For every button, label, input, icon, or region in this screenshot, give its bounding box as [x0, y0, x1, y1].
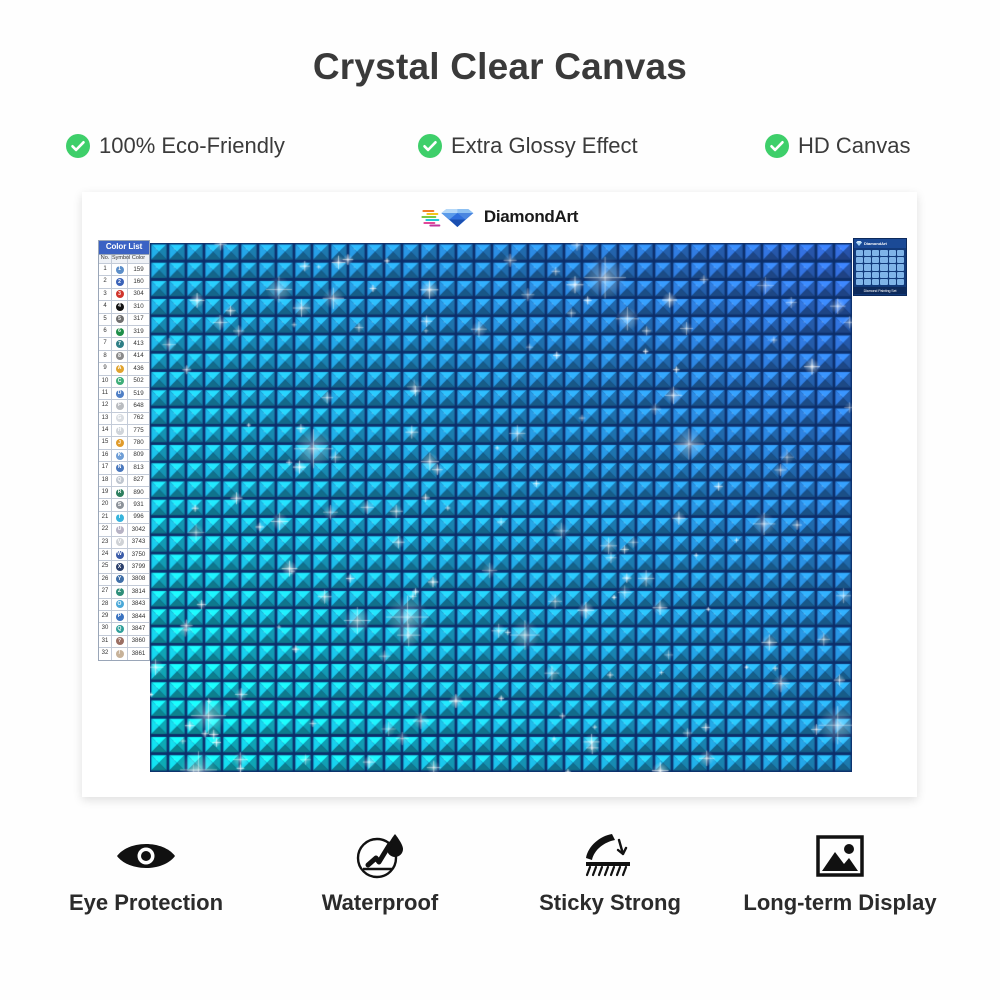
symbol-badge: X: [116, 563, 124, 571]
color-row-symbol: K: [112, 450, 128, 461]
water-drop-check-icon: [290, 830, 470, 882]
color-row-number: 17: [99, 462, 112, 473]
kit-gem-icon: [856, 241, 862, 246]
check-circle-icon: [418, 134, 442, 158]
symbol-badge: O: [116, 600, 124, 608]
color-row-code: 3042: [128, 527, 149, 533]
color-list-title: Color List: [99, 241, 149, 254]
product-kit-thumbnail-icon: DiamondArt Diamond Painting Set: [853, 238, 907, 296]
bottom-feature-waterproof: Waterproof: [290, 830, 470, 916]
bottom-feature-eye-protection: Eye Protection: [56, 830, 236, 916]
color-row-code: 519: [128, 391, 149, 397]
symbol-badge: 6: [116, 328, 124, 336]
color-list-body: 1115922160333044431055317663197741388414…: [99, 263, 149, 660]
color-row-code: 413: [128, 341, 149, 347]
symbol-badge: ?: [116, 637, 124, 645]
symbol-badge: Y: [116, 575, 124, 583]
color-row-symbol: O: [112, 599, 128, 610]
color-row-number: 29: [99, 611, 112, 622]
color-row-symbol: X: [112, 561, 128, 572]
kit-diamond-grid: [854, 248, 906, 287]
color-list-row: 30Q3847: [99, 622, 149, 634]
symbol-badge: Q: [116, 476, 124, 484]
color-row-code: 414: [128, 353, 149, 359]
color-row-symbol: H: [112, 425, 128, 436]
color-row-code: 304: [128, 291, 149, 297]
color-row-symbol: 2: [112, 276, 128, 287]
canvas-preview-card: DiamondArt Color List No. Symbol Color 1…: [82, 192, 917, 797]
color-list-row: 55317: [99, 313, 149, 325]
color-row-number: 15: [99, 437, 112, 448]
color-row-number: 27: [99, 586, 112, 597]
color-row-code: 319: [128, 329, 149, 335]
color-row-number: 9: [99, 363, 112, 374]
color-row-code: 3814: [128, 589, 149, 595]
color-row-number: 12: [99, 400, 112, 411]
diamond-gem-logo-icon: [421, 205, 477, 229]
symbol-badge: F: [116, 402, 124, 410]
symbol-badge: 5: [116, 315, 124, 323]
symbol-badge: H: [116, 427, 124, 435]
color-row-code: 780: [128, 440, 149, 446]
color-row-symbol: V: [112, 537, 128, 548]
color-row-code: 3847: [128, 626, 149, 632]
brand-name: DiamondArt: [484, 207, 578, 227]
color-row-number: 6: [99, 326, 112, 337]
color-row-number: 23: [99, 537, 112, 548]
check-circle-icon: [765, 134, 789, 158]
symbol-badge: G: [116, 414, 124, 422]
color-row-symbol: ?: [112, 636, 128, 647]
color-list-row: 22U3042: [99, 523, 149, 535]
page-title: Crystal Clear Canvas: [0, 46, 1000, 88]
feature-label: 100% Eco-Friendly: [99, 133, 285, 159]
color-list-row: 29P3844: [99, 610, 149, 622]
color-row-number: 4: [99, 301, 112, 312]
color-row-code: 648: [128, 403, 149, 409]
eye-icon: [56, 830, 236, 882]
color-row-number: 5: [99, 314, 112, 325]
symbol-badge: D: [116, 390, 124, 398]
color-row-code: 3750: [128, 552, 149, 558]
color-row-symbol: N: [112, 462, 128, 473]
color-row-code: 310: [128, 304, 149, 310]
color-row-symbol: P: [112, 611, 128, 622]
symbol-badge: Z: [116, 588, 124, 596]
color-list-row: 17N813: [99, 461, 149, 473]
color-row-code: 159: [128, 267, 149, 273]
color-list-row: 19R890: [99, 486, 149, 498]
symbol-badge: S: [116, 501, 124, 509]
symbol-badge: A: [116, 365, 124, 373]
color-row-number: 3: [99, 289, 112, 300]
color-row-code: 160: [128, 279, 149, 285]
bottom-feature-sticky-strong: Sticky Strong: [520, 830, 700, 916]
color-row-number: 1: [99, 264, 112, 275]
adhesive-brush-icon: [520, 830, 700, 882]
feature-item-eco: 100% Eco-Friendly: [66, 133, 285, 159]
color-row-number: 24: [99, 549, 112, 560]
symbol-badge: 8: [116, 352, 124, 360]
symbol-badge: 7: [116, 340, 124, 348]
color-row-number: 26: [99, 574, 112, 585]
color-list-row: 28O3843: [99, 598, 149, 610]
color-row-number: 8: [99, 351, 112, 362]
color-row-code: 502: [128, 378, 149, 384]
color-row-symbol: T: [112, 512, 128, 523]
bottom-feature-label: Sticky Strong: [520, 890, 700, 916]
color-list-row: 31?3860: [99, 635, 149, 647]
color-list-row: 44310: [99, 300, 149, 312]
symbol-badge: K: [116, 452, 124, 460]
color-list-row: 26Y3808: [99, 573, 149, 585]
color-row-number: 14: [99, 425, 112, 436]
color-row-number: 28: [99, 599, 112, 610]
color-row-number: 32: [99, 648, 112, 659]
color-row-number: 19: [99, 487, 112, 498]
color-row-code: 3861: [128, 651, 149, 657]
symbol-badge: J: [116, 439, 124, 447]
color-list-row: 10C502: [99, 375, 149, 387]
color-row-symbol: F: [112, 400, 128, 411]
symbol-badge: P: [116, 613, 124, 621]
symbol-badge: 2: [116, 278, 124, 286]
color-row-symbol: S: [112, 499, 128, 510]
symbol-badge: 3: [116, 290, 124, 298]
symbol-badge: C: [116, 377, 124, 385]
kit-caption: Diamond Painting Set: [854, 287, 906, 294]
color-list-row: 32/3861: [99, 647, 149, 659]
color-list-row: 23V3743: [99, 536, 149, 548]
feature-label: HD Canvas: [798, 133, 910, 159]
color-row-code: 775: [128, 428, 149, 434]
color-list-row: 18Q827: [99, 474, 149, 486]
feature-label: Extra Glossy Effect: [451, 133, 638, 159]
check-circle-icon: [66, 134, 90, 158]
color-row-symbol: 5: [112, 314, 128, 325]
color-list-table: Color List No. Symbol Color 111592216033…: [98, 240, 150, 661]
bottom-feature-label: Long-term Display: [725, 890, 955, 916]
color-row-symbol: 8: [112, 351, 128, 362]
color-row-symbol: 6: [112, 326, 128, 337]
color-list-row: 66319: [99, 325, 149, 337]
color-row-code: 3843: [128, 601, 149, 607]
color-list-row: 12F648: [99, 399, 149, 411]
product-feature-graphic: Crystal Clear Canvas 100% Eco-Friendly E…: [0, 0, 1000, 1000]
color-row-code: 809: [128, 452, 149, 458]
column-header-no: No.: [99, 255, 112, 264]
color-row-code: 890: [128, 490, 149, 496]
kit-thumbnail-header: DiamondArt: [854, 239, 906, 248]
color-row-symbol: C: [112, 376, 128, 387]
color-row-symbol: G: [112, 413, 128, 424]
color-row-symbol: Y: [112, 574, 128, 585]
color-row-code: 3860: [128, 638, 149, 644]
color-row-number: 30: [99, 623, 112, 634]
color-row-number: 7: [99, 338, 112, 349]
color-list-row: 77413: [99, 337, 149, 349]
color-row-number: 31: [99, 636, 112, 647]
color-list-row: 11159: [99, 263, 149, 275]
color-row-symbol: Z: [112, 586, 128, 597]
kit-brand-name: DiamondArt: [864, 241, 887, 246]
color-row-code: 827: [128, 477, 149, 483]
symbol-badge: /: [116, 650, 124, 658]
picture-frame-icon: [725, 830, 955, 882]
color-row-symbol: 7: [112, 338, 128, 349]
color-list-row: 20S931: [99, 498, 149, 510]
color-row-code: 996: [128, 514, 149, 520]
color-row-number: 22: [99, 524, 112, 535]
color-row-symbol: R: [112, 487, 128, 498]
color-row-code: 3808: [128, 576, 149, 582]
symbol-badge: Q: [116, 625, 124, 633]
color-row-code: 317: [128, 316, 149, 322]
symbol-badge: T: [116, 514, 124, 522]
color-row-number: 25: [99, 561, 112, 572]
color-row-symbol: /: [112, 648, 128, 659]
symbol-badge: N: [116, 464, 124, 472]
color-row-number: 20: [99, 499, 112, 510]
bottom-feature-long-term-display: Long-term Display: [725, 830, 955, 916]
feature-item-hd: HD Canvas: [765, 133, 910, 159]
symbol-badge: U: [116, 526, 124, 534]
color-list-row: 15J780: [99, 436, 149, 448]
color-row-symbol: 1: [112, 264, 128, 275]
symbol-badge: 1: [116, 266, 124, 274]
feature-check-row: 100% Eco-Friendly Extra Glossy Effect HD…: [0, 133, 1000, 167]
color-row-code: 3844: [128, 614, 149, 620]
color-list-row: 27Z3814: [99, 585, 149, 597]
color-row-symbol: J: [112, 437, 128, 448]
symbol-badge: W: [116, 551, 124, 559]
color-list-row: 21T996: [99, 511, 149, 523]
color-row-code: 3743: [128, 539, 149, 545]
color-list-row: 25X3799: [99, 560, 149, 572]
color-list-row: 13G762: [99, 412, 149, 424]
symbol-badge: 4: [116, 303, 124, 311]
color-list-row: 11D519: [99, 387, 149, 399]
color-row-number: 13: [99, 413, 112, 424]
color-row-number: 16: [99, 450, 112, 461]
color-list-row: 22160: [99, 275, 149, 287]
color-list-row: 88414: [99, 350, 149, 362]
color-row-code: 3799: [128, 564, 149, 570]
brand-logo: DiamondArt: [421, 203, 578, 231]
color-row-symbol: Q: [112, 623, 128, 634]
color-row-symbol: Q: [112, 475, 128, 486]
color-list-row: 14H775: [99, 424, 149, 436]
bottom-feature-row: Eye Protection Waterproof: [0, 830, 1000, 940]
symbol-badge: V: [116, 538, 124, 546]
color-list-row: 33304: [99, 288, 149, 300]
color-row-symbol: D: [112, 388, 128, 399]
color-row-symbol: 3: [112, 289, 128, 300]
bottom-feature-label: Eye Protection: [56, 890, 236, 916]
color-list-row: 24W3750: [99, 548, 149, 560]
column-header-color: Color: [128, 255, 149, 264]
feature-item-glossy: Extra Glossy Effect: [418, 133, 638, 159]
bottom-feature-label: Waterproof: [290, 890, 470, 916]
color-row-code: 813: [128, 465, 149, 471]
symbol-badge: R: [116, 489, 124, 497]
color-row-symbol: A: [112, 363, 128, 374]
color-row-number: 18: [99, 475, 112, 486]
color-row-code: 762: [128, 415, 149, 421]
color-row-number: 11: [99, 388, 112, 399]
color-list-row: 9A436: [99, 362, 149, 374]
color-row-number: 21: [99, 512, 112, 523]
column-header-symbol: Symbol: [112, 255, 128, 264]
color-row-code: 931: [128, 502, 149, 508]
color-row-code: 436: [128, 366, 149, 372]
color-list-row: 16K809: [99, 449, 149, 461]
diamond-mosaic-canvas: [150, 243, 852, 772]
color-row-symbol: U: [112, 524, 128, 535]
color-row-number: 2: [99, 276, 112, 287]
color-row-number: 10: [99, 376, 112, 387]
color-list-header: No. Symbol Color: [99, 254, 149, 264]
color-row-symbol: W: [112, 549, 128, 560]
color-row-symbol: 4: [112, 301, 128, 312]
